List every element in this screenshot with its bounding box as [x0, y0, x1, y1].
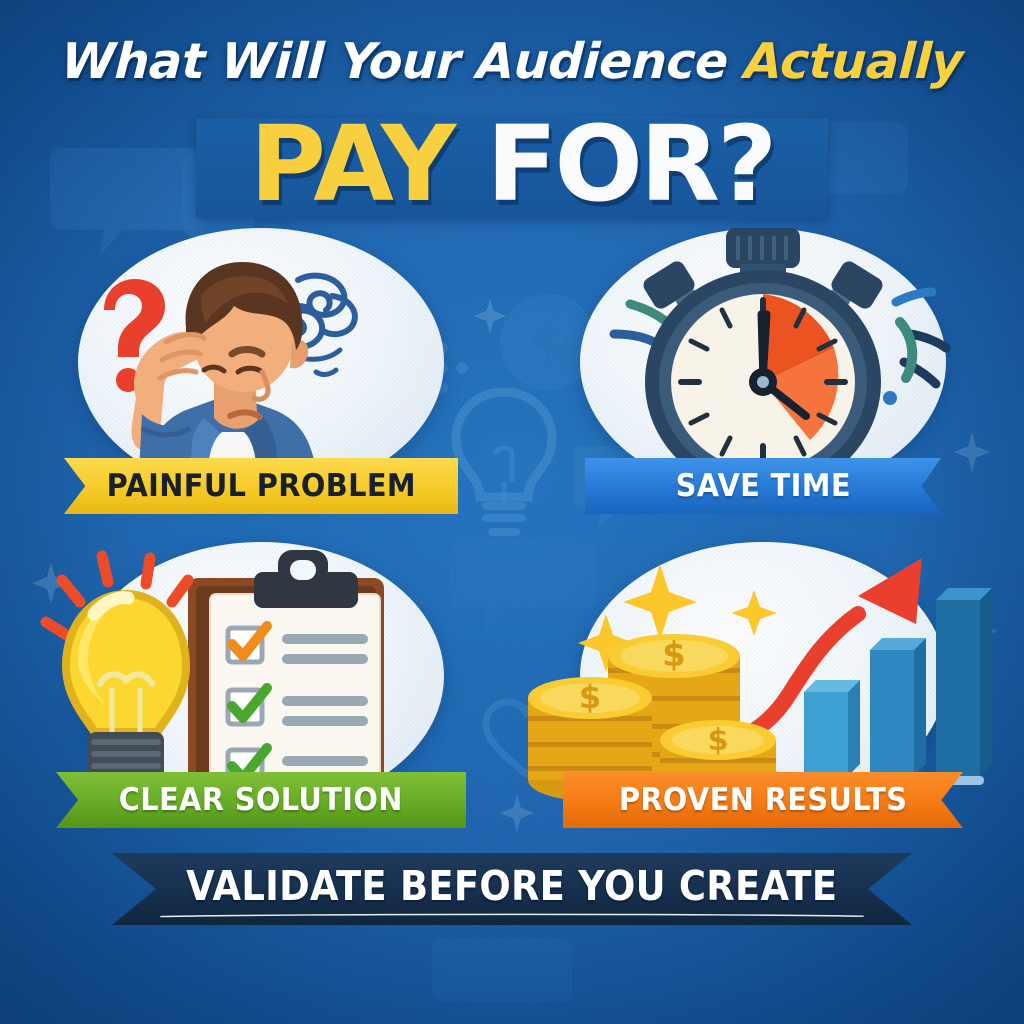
svg-text:$: $	[579, 678, 601, 716]
bar-chart-icon	[804, 588, 992, 776]
svg-text:$: $	[662, 635, 686, 675]
message-icon	[432, 930, 572, 1020]
title-block: What Will Your Audience Actually	[0, 36, 1024, 88]
card-clear-solution[interactable]: CLEAR SOLUTION	[16, 536, 506, 846]
card-proven-results[interactable]: $ $	[518, 536, 1008, 846]
ribbon-label: CLEAR SOLUTION	[119, 782, 403, 818]
footer-banner[interactable]: VALIDATE BEFORE YOU CREATE	[112, 853, 912, 925]
card-painful-problem[interactable]: PAINFUL PROBLEM	[16, 222, 506, 532]
ribbon-label: SAVE TIME	[675, 468, 850, 504]
title-pay-word: PAY	[250, 103, 454, 225]
ribbon-proven-results[interactable]: PROVEN RESULTS	[563, 772, 963, 828]
title-line1-text: What Will Your Audience	[60, 33, 746, 90]
ribbon-save-time[interactable]: SAVE TIME	[585, 458, 941, 514]
lightbulb-icon	[62, 590, 190, 804]
footer-banner-label: VALIDATE BEFORE YOU CREATE	[186, 862, 837, 910]
title-for-word: FOR?	[453, 103, 774, 225]
svg-text:$: $	[708, 723, 729, 758]
coins-growth-chart-icon: $ $	[518, 536, 1008, 806]
title-line1-highlight: Actually	[743, 33, 964, 90]
lightbulb-clipboard-icon	[16, 536, 506, 806]
ribbon-label: PROVEN RESULTS	[619, 782, 908, 818]
ribbon-painful-problem[interactable]: PAINFUL PROBLEM	[64, 458, 458, 514]
infographic-poster: $	[0, 0, 1024, 1024]
stopwatch-icon	[518, 222, 1008, 492]
ribbon-clear-solution[interactable]: CLEAR SOLUTION	[56, 772, 466, 828]
title-line-1: What Will Your Audience Actually	[0, 36, 1024, 88]
title-line-2: PAY FOR?	[0, 112, 1024, 216]
ribbon-label: PAINFUL PROBLEM	[106, 468, 415, 504]
frustrated-man-icon	[16, 222, 506, 492]
cards-grid: PAINFUL PROBLEM	[0, 214, 1024, 854]
card-save-time[interactable]: SAVE TIME	[518, 222, 1008, 532]
